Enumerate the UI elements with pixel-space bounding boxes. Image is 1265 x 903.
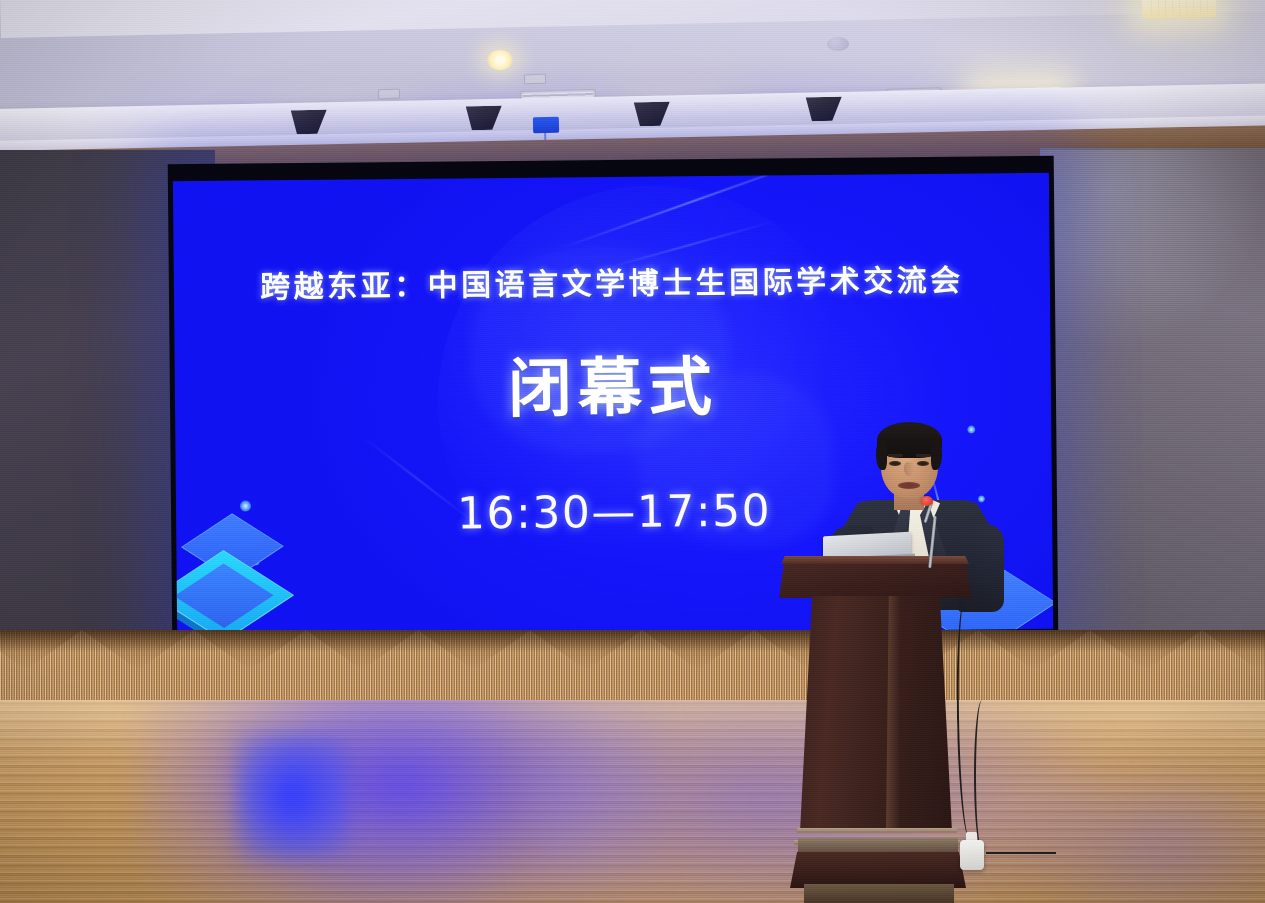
presenter-mouth xyxy=(898,482,920,489)
presenter-nose xyxy=(904,462,914,476)
presenter-brow-right xyxy=(916,454,931,457)
backdrop-top-shadow xyxy=(0,630,1265,652)
lectern-base-step xyxy=(798,838,958,854)
microphone-windscreen xyxy=(921,496,933,506)
photo-scene: 跨越东亚：中国语言文学博士生国际学术交流会 闭幕式 16:30—17:50 xyxy=(0,0,1265,903)
lectern-trim-band xyxy=(797,828,957,833)
lectern-body xyxy=(800,596,952,832)
small-ceiling-vent xyxy=(378,89,400,100)
presenter-brow-left xyxy=(888,454,903,457)
stage-floor xyxy=(0,700,1265,903)
power-adapter xyxy=(960,840,984,870)
lectern-plinth xyxy=(804,884,954,903)
floor-reflection-core xyxy=(235,735,350,860)
smoke-detector xyxy=(827,37,849,51)
wall-right-highlight xyxy=(1040,150,1265,350)
presenter-hair-side-right xyxy=(931,440,942,470)
small-ceiling-vent xyxy=(524,74,546,85)
screen-decor-plate xyxy=(173,550,294,637)
screen-event-title: 跨越东亚：中国语言文学博士生国际学术交流会 xyxy=(174,255,1050,307)
presenter-eye-left xyxy=(889,461,901,466)
ceiling-downlight xyxy=(487,50,513,70)
presenter-eye-right xyxy=(917,461,929,466)
presenter-hair-side-left xyxy=(876,440,887,470)
screen-decor-plate-inner xyxy=(174,563,273,628)
power-cable xyxy=(974,700,990,850)
ceiling-projector-device xyxy=(533,117,559,134)
lectern-base xyxy=(790,852,966,888)
lectern-top-edge xyxy=(779,556,971,564)
ceiling-panel-light xyxy=(1142,0,1217,19)
